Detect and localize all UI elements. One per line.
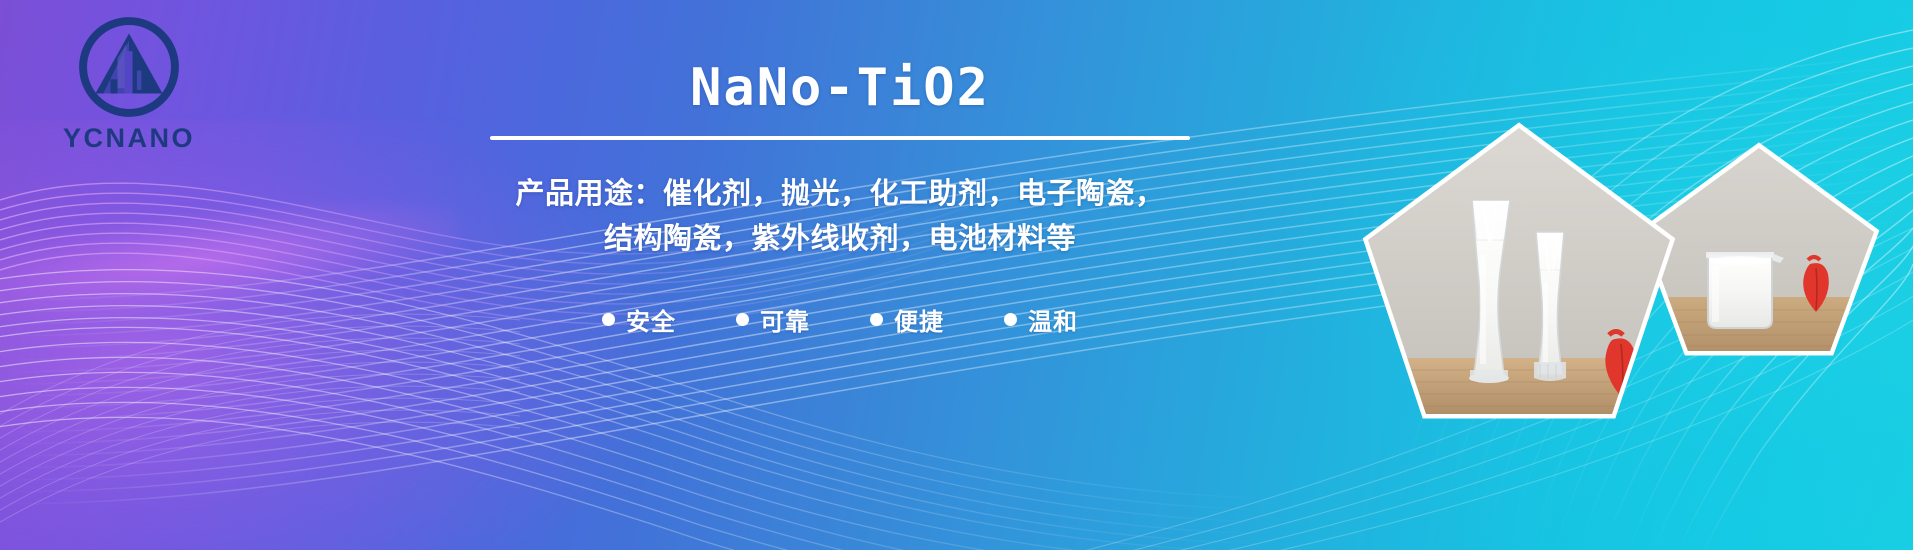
banner-content: NaNo-TiO2 产品用途：催化剂，抛光，化工助剂，电子陶瓷， 结构陶瓷，紫外… xyxy=(470,62,1210,337)
company-logo[interactable]: YCNANO xyxy=(44,14,214,179)
product-title: NaNo-TiO2 xyxy=(690,62,990,114)
feature-item-reliable: 可靠 xyxy=(736,302,810,337)
bullet-dot-icon xyxy=(870,313,883,326)
title-divider xyxy=(490,136,1190,140)
feature-label: 温和 xyxy=(1028,302,1078,337)
feature-list: 安全 可靠 便捷 温和 xyxy=(602,302,1078,337)
mountain-triangle-in-circle-icon xyxy=(76,14,182,120)
product-photo-vases[interactable] xyxy=(1360,122,1678,422)
logo-wordmark: YCNANO xyxy=(63,125,195,152)
feature-item-mild: 温和 xyxy=(1004,302,1078,337)
description-line-1: 产品用途：催化剂，抛光，化工助剂，电子陶瓷， xyxy=(515,172,1164,217)
feature-item-convenient: 便捷 xyxy=(870,302,944,337)
product-banner: YCNANO NaNo-TiO2 产品用途：催化剂，抛光，化工助剂，电子陶瓷， … xyxy=(0,0,1913,550)
feature-item-safe: 安全 xyxy=(602,302,676,337)
product-description: 产品用途：催化剂，抛光，化工助剂，电子陶瓷， 结构陶瓷，紫外线收剂，电池材料等 xyxy=(515,172,1164,262)
feature-label: 可靠 xyxy=(760,302,810,337)
bullet-dot-icon xyxy=(736,313,749,326)
description-line-2: 结构陶瓷，紫外线收剂，电池材料等 xyxy=(515,217,1164,262)
pentagon-photo-vases-svg xyxy=(1360,122,1678,422)
feature-label: 安全 xyxy=(626,302,676,337)
magenta-streak-overlay xyxy=(0,184,464,337)
bullet-dot-icon xyxy=(1004,313,1017,326)
bullet-dot-icon xyxy=(602,313,615,326)
feature-label: 便捷 xyxy=(894,302,944,337)
